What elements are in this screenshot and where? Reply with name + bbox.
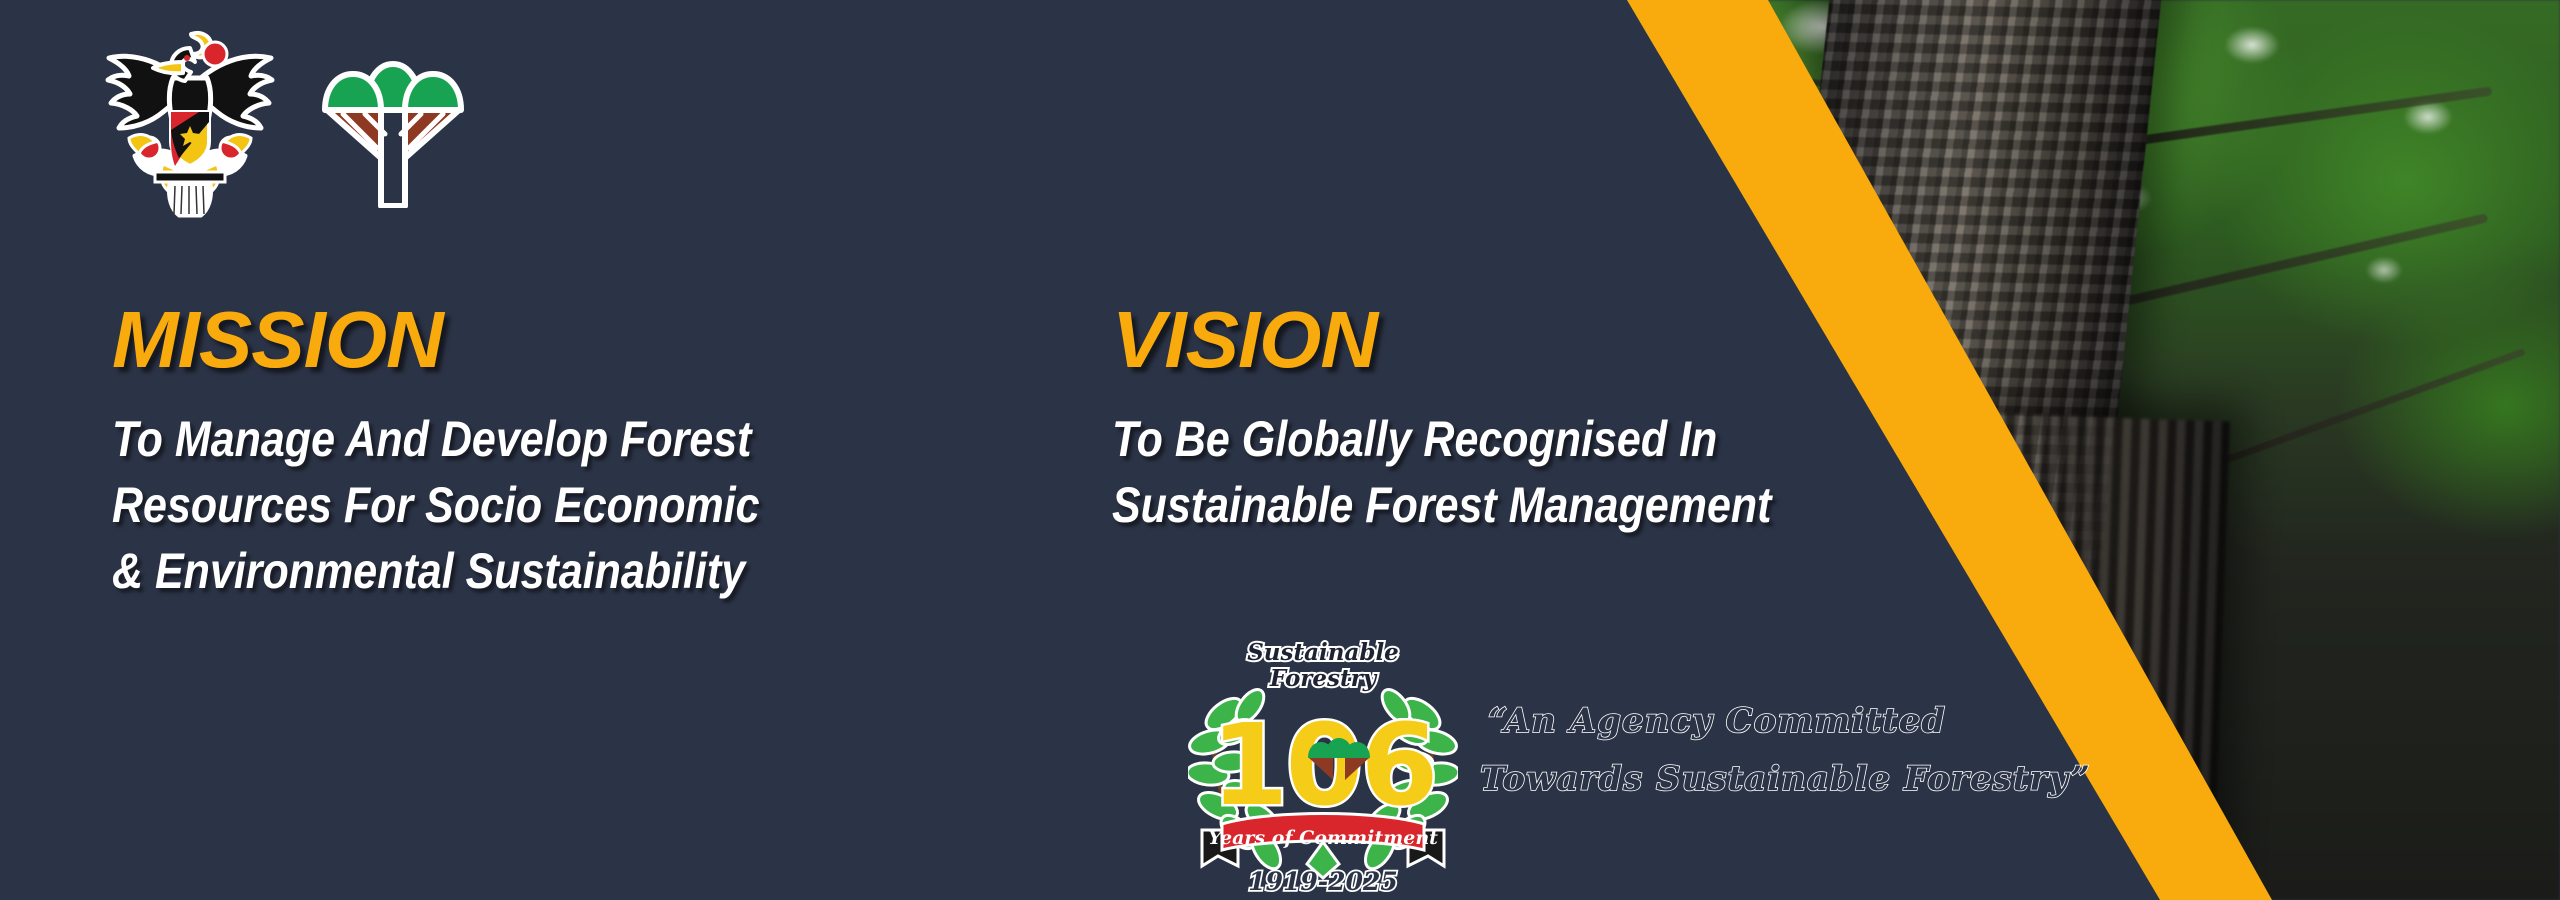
vision-line-1: To Be Globally Recognised In xyxy=(1112,406,1903,472)
mission-block: MISSION To Manage And Develop Forest Res… xyxy=(112,300,1012,604)
emblem-ribbon-text: Years of Commitment xyxy=(1208,827,1438,849)
mission-vision-banner: MISSION To Manage And Develop Forest Res… xyxy=(0,0,2560,900)
mission-line-3: & Environmental Sustainability xyxy=(112,538,886,604)
sarawak-coat-of-arms-icon xyxy=(95,18,285,218)
vision-heading: VISION xyxy=(1112,300,2032,380)
vision-block: VISION To Be Globally Recognised In Sust… xyxy=(1112,300,2032,538)
mission-line-2: Resources For Socio Economic xyxy=(112,472,886,538)
emblem-forestry-text: Forestry xyxy=(1269,665,1378,692)
mission-heading: MISSION xyxy=(112,300,1012,380)
emblem-years-text: 1919-2025 xyxy=(1248,867,1398,896)
logo-row xyxy=(95,18,473,218)
forestry-tree-logo-icon xyxy=(313,18,473,208)
mission-line-1: To Manage And Develop Forest xyxy=(112,406,886,472)
tagline-line-1: “An Agency Committed xyxy=(1488,701,1946,741)
tagline-line-2: Towards Sustainable Forestry” xyxy=(1480,759,2091,799)
agency-tagline: “An Agency Committed Towards Sustainable… xyxy=(1480,686,2100,816)
emblem-sustainable-text: Sustainable xyxy=(1247,639,1399,666)
vision-line-2: Sustainable Forest Management xyxy=(1112,472,1903,538)
anniversary-106-emblem: Sustainable Forestry 106 Years of Commit… xyxy=(1188,628,1458,896)
